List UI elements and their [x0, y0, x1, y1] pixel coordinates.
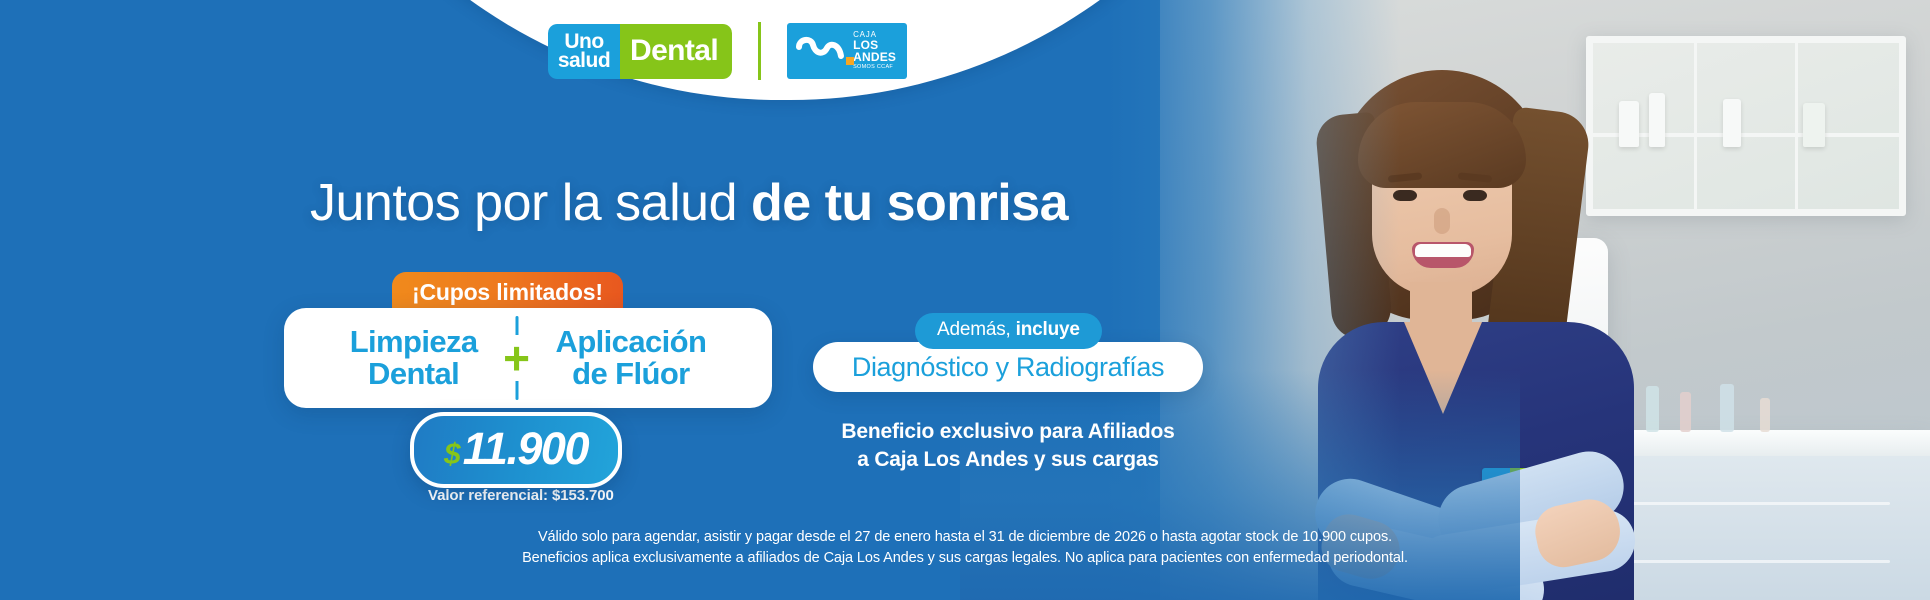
promo-banner: Uno salud Dental CAJA LOS ANDES SOMOS CC…: [0, 0, 1930, 600]
includes-badge-bold: incluye: [1016, 319, 1080, 340]
plus-icon: +: [501, 335, 532, 381]
dental-text: Dental: [630, 34, 718, 68]
legal-line-2: Beneficios aplica exclusivamente a afili…: [0, 548, 1930, 569]
legal-disclaimer: Válido solo para agendar, asistir y paga…: [0, 527, 1930, 568]
unosalud-mark: Uno salud: [548, 24, 620, 79]
plus-separator: +: [490, 316, 544, 400]
legal-line-1: Válido solo para agendar, asistir y paga…: [0, 527, 1930, 548]
benefit-text: Beneficio exclusivo para Afiliados a Caj…: [813, 418, 1203, 473]
page-title: Juntos por la salud de tu sonrisa: [310, 173, 1068, 233]
price-amount: 11.900: [463, 423, 588, 475]
reference-price: Valor referencial: $153.700: [428, 487, 614, 504]
service-left-line2: Dental: [350, 358, 478, 390]
headline-normal: Juntos por la salud: [310, 174, 751, 232]
service-right-line2: de Flúor: [556, 358, 707, 390]
currency-symbol: $: [444, 438, 461, 472]
service-right: Aplicación de Flúor: [544, 326, 719, 390]
service-left-line1: Limpieza: [350, 326, 478, 358]
logo-divider: [758, 22, 761, 80]
unosalud-dental-logo: Uno salud Dental: [548, 24, 732, 79]
benefit-line-1: Beneficio exclusivo para Afiliados: [813, 418, 1203, 446]
caja-wordmark: CAJA LOS ANDES SOMOS CCAF: [853, 31, 896, 71]
caja-tagline: SOMOS CCAF: [853, 65, 896, 71]
logo-row: Uno salud Dental CAJA LOS ANDES SOMOS CC…: [548, 22, 907, 80]
headline-bold: de tu sonrisa: [751, 174, 1068, 232]
includes-badge: Además, incluye: [915, 313, 1102, 349]
service-right-line1: Aplicación: [556, 326, 707, 358]
price-badge: $ 11.900: [410, 412, 622, 488]
caja-swirl-icon: [795, 36, 847, 66]
includes-badge-normal: Además,: [937, 319, 1016, 340]
offer-card: Limpieza Dental + Aplicación de Flúor: [284, 308, 772, 408]
caja-line-3: ANDES: [853, 51, 896, 63]
diagnostics-card: Diagnóstico y Radiografías: [813, 342, 1203, 392]
unosalud-salud-text: salud: [558, 51, 610, 70]
caja-orange-square-icon: [846, 57, 854, 65]
benefit-line-2: a Caja Los Andes y sus cargas: [813, 446, 1203, 474]
caja-los-andes-logo: CAJA LOS ANDES SOMOS CCAF: [787, 23, 907, 79]
unosalud-dental-wordmark: Dental: [620, 24, 732, 79]
service-left: Limpieza Dental: [338, 326, 490, 390]
